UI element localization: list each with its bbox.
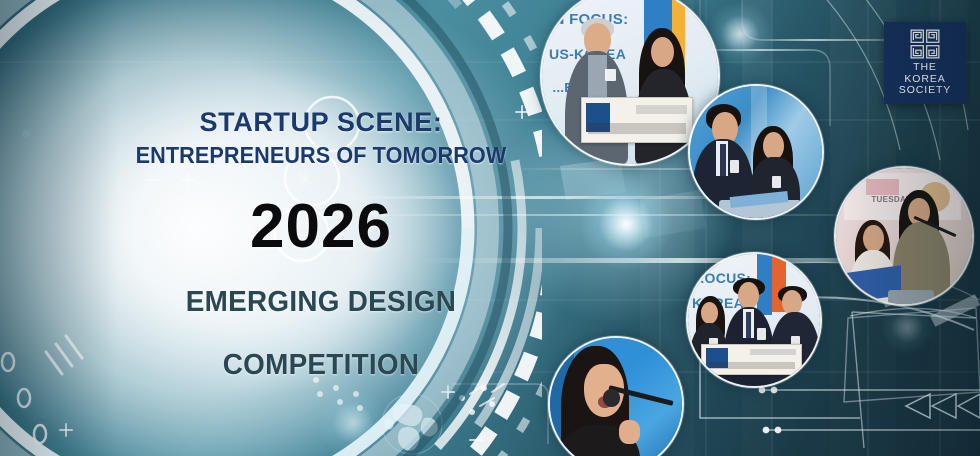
logo-line-the: THE [899, 62, 951, 74]
photo-two-women-presenting: TUESDAY [834, 166, 974, 306]
photo-speaker-microphone [548, 336, 684, 456]
korea-society-logo[interactable]: THE KOREA SOCIETY [884, 22, 966, 104]
photo-two-presenters-podium [688, 84, 824, 220]
korea-meander-emblem-icon [910, 29, 940, 59]
award-check [701, 344, 801, 376]
photo-check-five-hundred: ...OCUS: KOREA [686, 252, 822, 388]
year-text: 2026 [96, 196, 546, 258]
logo-text: THE KOREA SOCIETY [899, 62, 951, 97]
subtitle-line-1: EMERGING DESIGN [105, 284, 537, 321]
lens-flare [880, 300, 934, 354]
promotional-banner: STARTUP SCENE: ENTREPRENEURS OF TOMORROW… [0, 0, 980, 456]
title-line-2: ENTREPRENEURS OF TOMORROW [110, 143, 533, 169]
subtitle-line-2: COMPETITION [105, 347, 537, 384]
logo-line-society: SOCIETY [899, 85, 951, 97]
triple-left-chevron-icon [906, 394, 980, 418]
lens-flare [580, 178, 672, 270]
title-line-1: STARTUP SCENE: [96, 108, 546, 137]
award-check [581, 97, 694, 143]
headline-block: STARTUP SCENE: ENTREPRENEURS OF TOMORROW… [96, 108, 546, 383]
